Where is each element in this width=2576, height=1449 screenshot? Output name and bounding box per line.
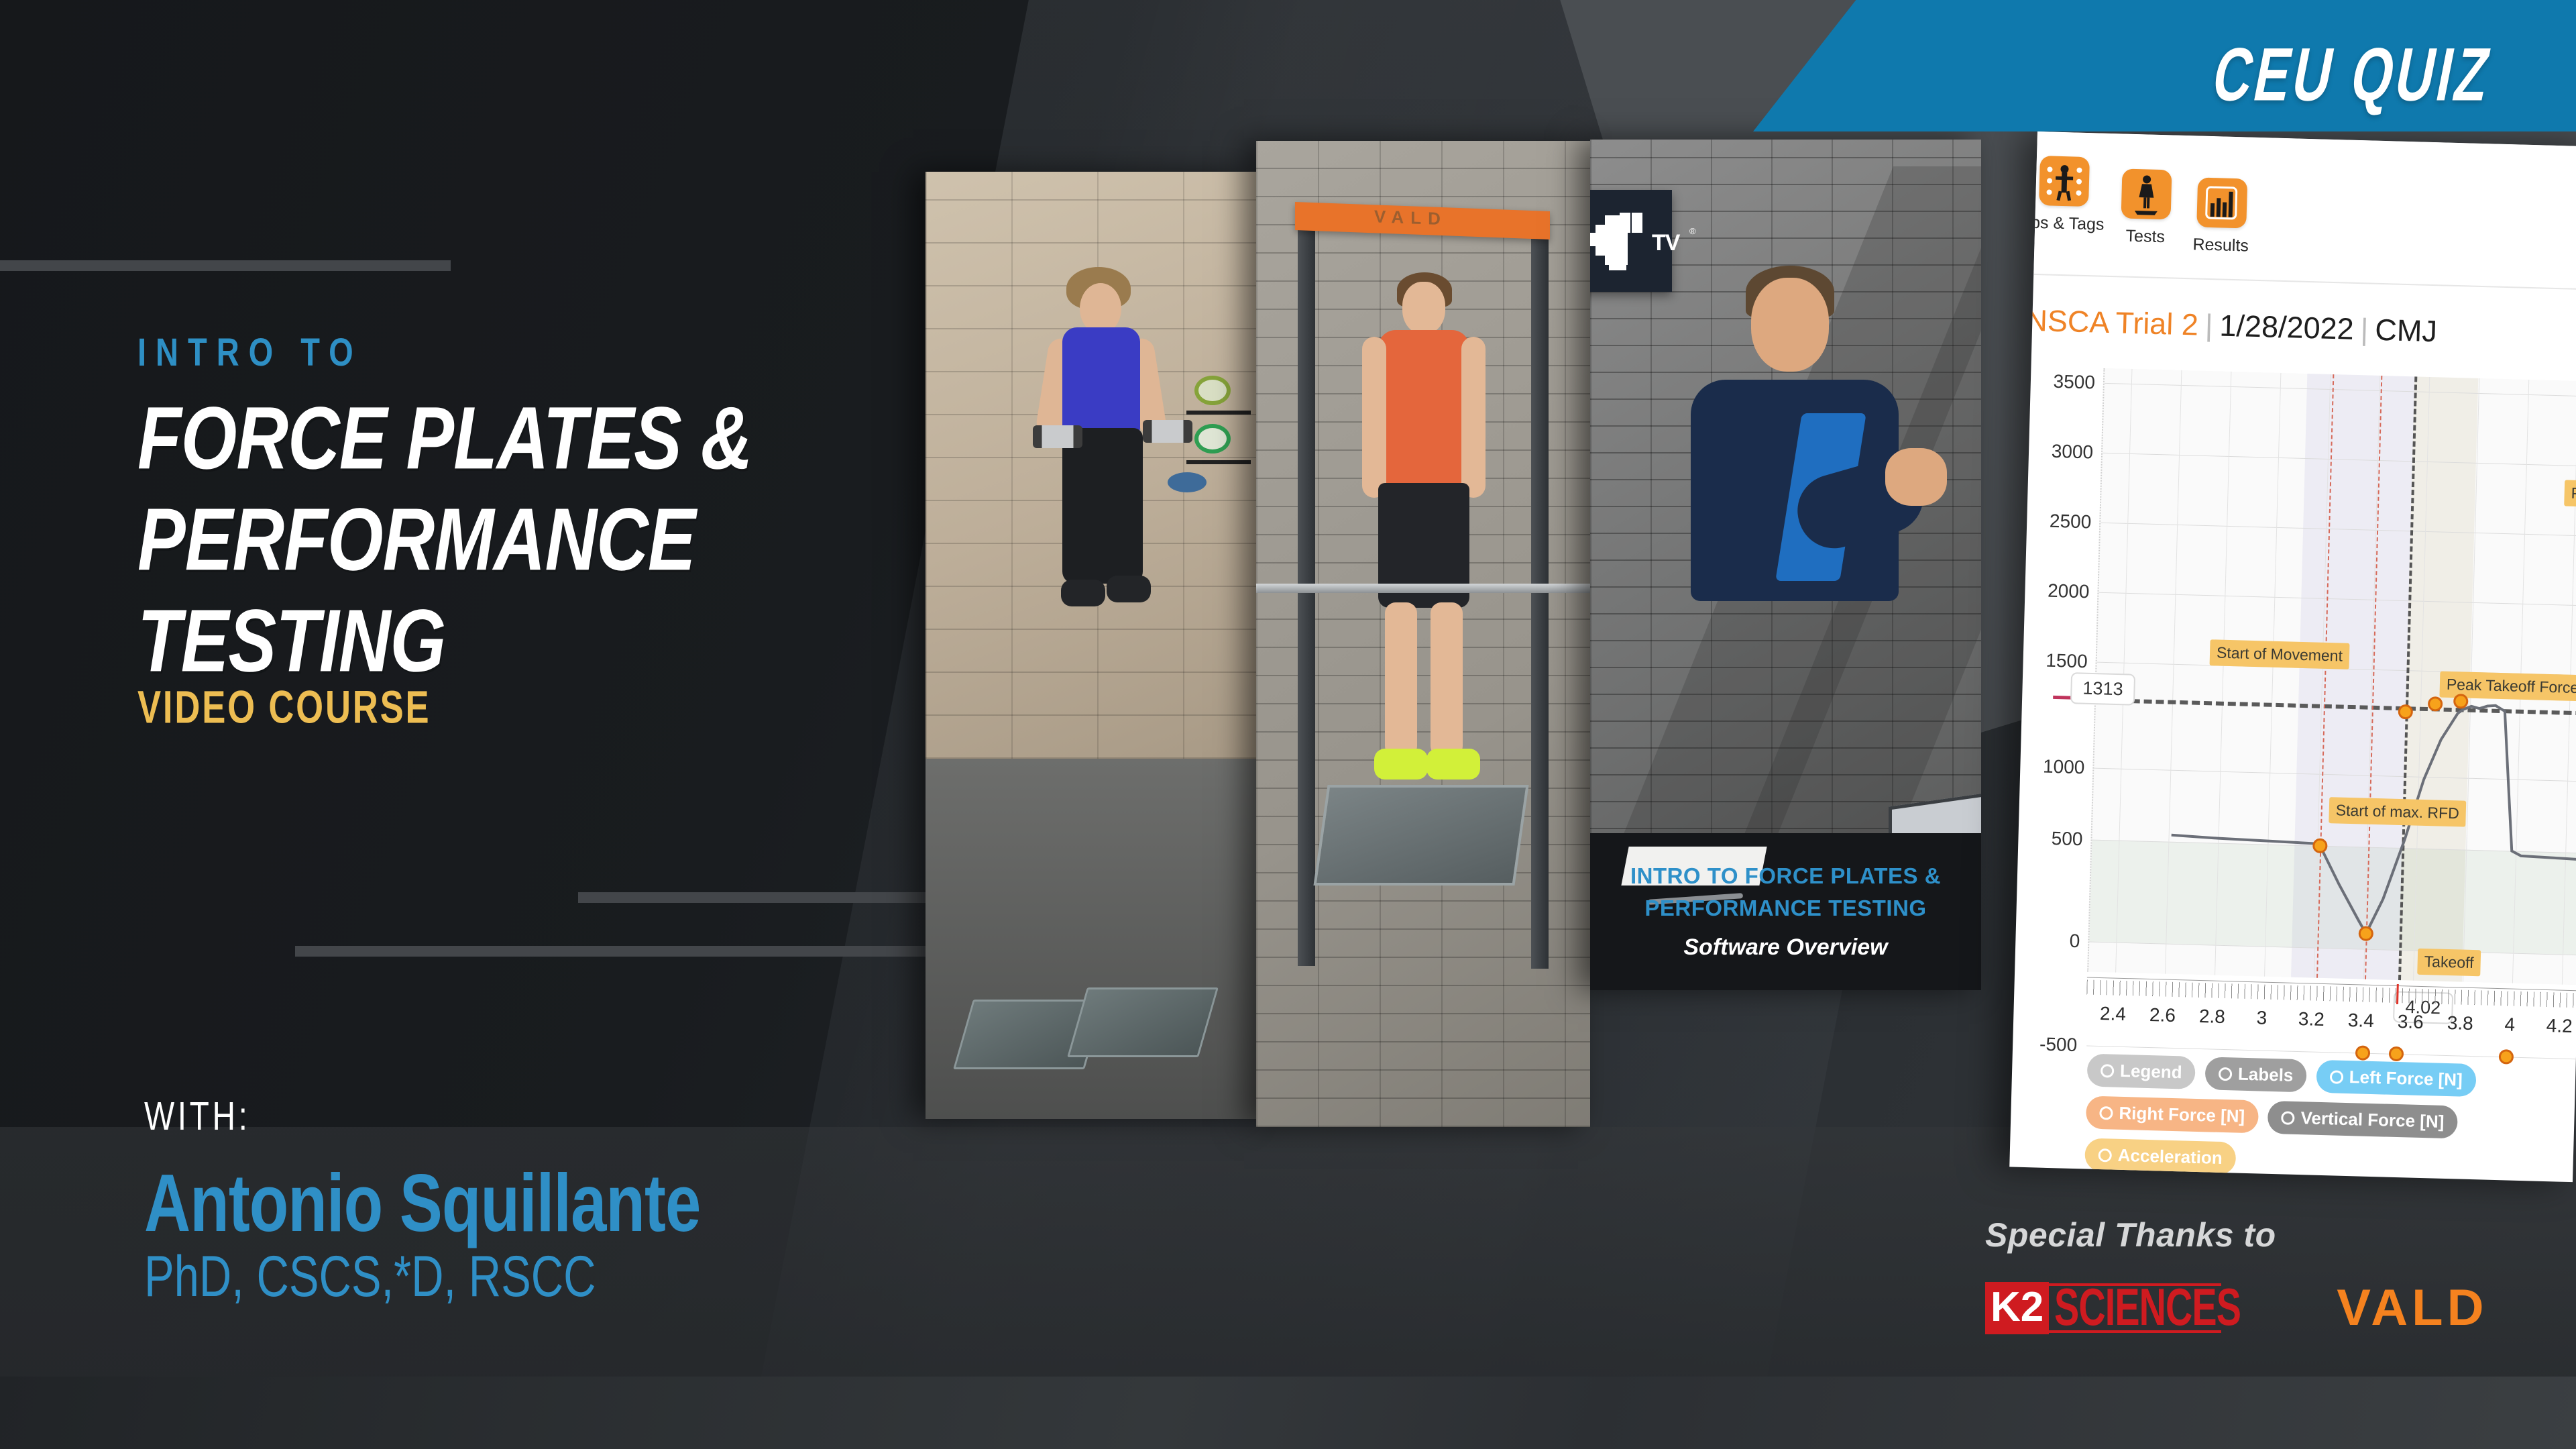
- chip-label: Acceleration: [2117, 1145, 2223, 1169]
- tests-icon: [2121, 168, 2172, 219]
- course-kicker: INTRO TO: [137, 329, 778, 375]
- software-toolbar: ups & Tags Tests: [2033, 131, 2576, 288]
- right-leg: [1431, 602, 1463, 757]
- head: [1080, 283, 1121, 334]
- athlete-lifting: [1355, 262, 1490, 839]
- chip-acceleration[interactable]: Acceleration: [2084, 1138, 2236, 1175]
- eye-icon: [2281, 1111, 2295, 1125]
- photo-panel-jump-force-plates: [926, 172, 1256, 1119]
- annotation-takeoff: Takeoff: [2417, 949, 2481, 977]
- data-point-marker[interactable]: [2389, 1046, 2404, 1062]
- left-leg: [1385, 602, 1417, 757]
- title-separator: |: [2353, 312, 2375, 347]
- force-plate-right: [1067, 987, 1219, 1057]
- x-tick-label: 3.2: [2298, 1008, 2325, 1030]
- nav-label: Tests: [2120, 226, 2170, 247]
- annotation-start-max-rfd: Start of max. RFD: [2329, 797, 2466, 827]
- left-shoe: [1061, 580, 1105, 606]
- caption-line-1: INTRO TO FORCE PLATES &: [1630, 863, 1941, 889]
- data-point-marker[interactable]: [2355, 1045, 2371, 1061]
- hand: [1885, 448, 1947, 506]
- barbell: [1256, 584, 1590, 593]
- force-time-chart[interactable]: 3500 3000 2500 2000 1500 1000 500 0 -500…: [2087, 368, 2576, 989]
- video-caption-block: INTRO TO FORCE PLATES & PERFORMANCE TEST…: [1590, 833, 1981, 990]
- sponsor-credits: Special Thanks to K2 SCIENCES VALD: [1985, 1216, 2487, 1337]
- caption-line-2: PERFORMANCE TESTING: [1644, 896, 1926, 921]
- eye-icon: [2219, 1067, 2233, 1081]
- title-line-1: FORCE PLATES &: [137, 388, 752, 489]
- chip-labels[interactable]: Labels: [2204, 1057, 2307, 1092]
- chip-label: Legend: [2120, 1061, 2182, 1083]
- series-toggle-chips: Legend Labels Left Force [N] Right Force…: [2083, 1054, 2576, 1183]
- shelf-rail: [1186, 460, 1251, 464]
- bosu-ball: [1168, 472, 1207, 492]
- k2-mark: K2: [1985, 1282, 2049, 1334]
- y-tick-label: 0: [2069, 930, 2080, 952]
- course-title: FORCE PLATES & PERFORMANCE TESTING: [137, 388, 752, 692]
- special-thanks-label: Special Thanks to: [1985, 1216, 2487, 1254]
- title-line-3: TESTING: [137, 590, 752, 692]
- orange-shirt: [1378, 330, 1469, 487]
- rack-post-left: [1298, 228, 1315, 966]
- x-tick-label: 4: [2504, 1014, 2515, 1035]
- right-arm: [1461, 337, 1486, 498]
- nav-label: Results: [2192, 235, 2249, 256]
- black-pants: [1062, 428, 1143, 584]
- y-tick-label: -500: [2039, 1034, 2078, 1057]
- nav-results[interactable]: Results: [2192, 177, 2250, 256]
- chip-label: Labels: [2238, 1064, 2294, 1086]
- eye-icon: [2098, 1148, 2112, 1163]
- title-line-2: PERFORMANCE: [137, 489, 752, 590]
- presenter-figure: [1668, 266, 1923, 695]
- shelf-rail: [1186, 411, 1251, 415]
- nsca-logo-icon: TV ®: [1590, 210, 1646, 272]
- sponsor-logo-row: K2 SCIENCES VALD: [1985, 1279, 2487, 1337]
- y-tick-label: 1500: [2046, 650, 2088, 673]
- course-format: VIDEO COURSE: [137, 680, 739, 733]
- course-copy-block: INTRO TO FORCE PLATES & PERFORMANCE TEST…: [137, 329, 778, 724]
- head: [1402, 282, 1445, 334]
- x-tick-label: 4.2: [2546, 1015, 2573, 1037]
- results-icon: [2196, 177, 2247, 228]
- groups-tags-icon: [2039, 156, 2090, 207]
- rack-post-right: [1531, 224, 1549, 969]
- right-shoe: [1107, 576, 1151, 602]
- force-platform: [1313, 785, 1528, 885]
- chip-label: Left Force [N]: [2349, 1067, 2463, 1091]
- left-arm: [1362, 337, 1386, 498]
- photo-panel-rack-deadlift: VALD: [1256, 141, 1590, 1127]
- blue-shirt: [1062, 327, 1140, 435]
- x-tick-label: 3.8: [2447, 1012, 2473, 1034]
- annotation-peak-landing-force: Peak Landing Force: [2564, 480, 2576, 510]
- title-separator: |: [2198, 308, 2220, 343]
- test-date: 1/28/2022: [2219, 308, 2355, 345]
- ceu-quiz-label: CEU QUIZ: [2206, 32, 2500, 118]
- x-tick-label: 2.8: [2199, 1006, 2226, 1028]
- y-tick-label: 3000: [2051, 441, 2093, 464]
- photo-panel-presenter: TV ® INTRO TO FORCE PLATES & PERFORMANCE…: [1590, 140, 1981, 990]
- vald-logo: VALD: [2337, 1279, 2487, 1337]
- y-tick-label: 2000: [2048, 580, 2090, 603]
- athlete-jumping: [1031, 252, 1152, 682]
- y-tick-label: 500: [2051, 828, 2083, 850]
- x-tick-label: 3: [2256, 1007, 2267, 1028]
- accent-bar-top: [0, 260, 451, 271]
- dumbbell-left: [1033, 425, 1082, 448]
- chip-right-force[interactable]: Right Force [N]: [2086, 1096, 2259, 1134]
- chip-legend[interactable]: Legend: [2087, 1054, 2196, 1089]
- athlete-name: NSCA Trial 2: [2025, 303, 2199, 342]
- chip-vertical-force[interactable]: Vertical Force [N]: [2267, 1101, 2458, 1139]
- head: [1751, 278, 1829, 372]
- chip-label: Right Force [N]: [2119, 1103, 2245, 1127]
- x-tick-label: 2.6: [2149, 1004, 2176, 1026]
- k2-sciences-logo: K2 SCIENCES: [1985, 1282, 2261, 1334]
- accent-bar-lower: [295, 946, 966, 957]
- course-title-card: VALD TV: [0, 0, 2576, 1449]
- eye-off-icon: [2099, 1106, 2113, 1120]
- nav-tests[interactable]: Tests: [2120, 168, 2172, 247]
- x-tick-label: 2.4: [2100, 1003, 2127, 1025]
- caption-subtitle: Software Overview: [1683, 934, 1887, 961]
- bottom-gradient-band: [0, 1377, 2576, 1449]
- y-tick-label: 1000: [2043, 756, 2085, 779]
- presenter-block: WITH: Antonio Squillante PhD, CSCS,*D, R…: [144, 1093, 742, 1299]
- dumbbell-right: [1143, 420, 1192, 443]
- test-type: CMJ: [2375, 313, 2438, 348]
- forcedecks-software-screenshot: ups & Tags Tests: [2009, 131, 2576, 1182]
- left-shoe: [1374, 749, 1428, 780]
- chip-left-force[interactable]: Left Force [N]: [2316, 1060, 2476, 1097]
- eye-off-icon: [2330, 1070, 2344, 1084]
- right-shoe: [1426, 749, 1480, 780]
- presenter-name: Antonio Squillante: [144, 1157, 700, 1250]
- medicine-ball: [1194, 376, 1231, 405]
- x-tick-label: 3.6: [2397, 1011, 2424, 1033]
- tv-text: TV: [1652, 230, 1679, 256]
- k2-wordmark: SCIENCES: [2054, 1278, 2241, 1338]
- registered-mark: ®: [1689, 226, 1696, 236]
- eye-off-icon: [2101, 1064, 2115, 1078]
- test-title-bar: NSCA Trial 2|1/28/2022|CMJ: [2025, 303, 2438, 350]
- chip-label: Vertical Force [N]: [2300, 1108, 2445, 1132]
- data-point-marker[interactable]: [2499, 1049, 2514, 1065]
- with-label: WITH:: [144, 1093, 694, 1140]
- presenter-credentials: PhD, CSCS,*D, RSCC: [144, 1244, 700, 1309]
- annotation-start-of-movement: Start of Movement: [2210, 639, 2350, 669]
- medicine-ball: [1194, 424, 1231, 453]
- x-tick-label: 3.4: [2347, 1010, 2374, 1032]
- nsca-tv-sign: TV ®: [1590, 190, 1672, 292]
- y-tick-label: 2500: [2050, 511, 2092, 533]
- y-tick-label: 3500: [2053, 371, 2095, 394]
